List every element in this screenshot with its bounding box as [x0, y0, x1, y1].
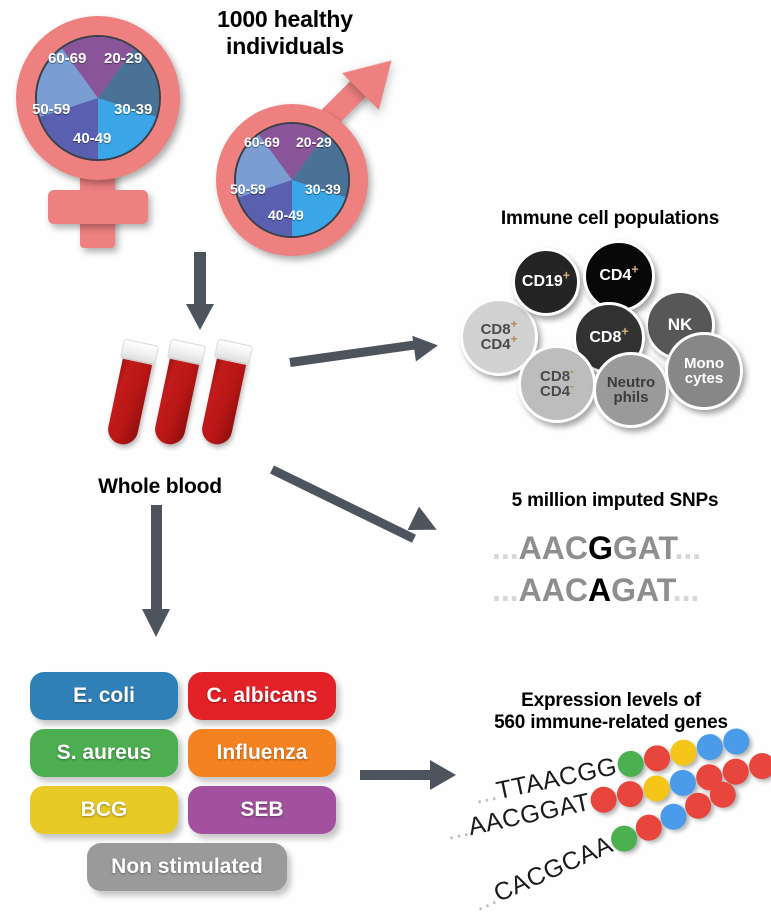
- blood-tube-body: [105, 351, 153, 447]
- gene-bead: [615, 778, 646, 809]
- gene-bead: [615, 748, 646, 779]
- cell-neutrophils: Neutro phils: [593, 352, 669, 428]
- snp-variant-allele: A: [588, 572, 611, 608]
- cell-label: CD8- CD4-: [540, 369, 574, 400]
- male-gender-symbol: 20-29 30-39 40-49 50-59 60-69: [212, 90, 412, 250]
- cell-label: Mono cytes: [684, 356, 724, 387]
- snp-dots-left: ...: [492, 572, 519, 608]
- snp-sequence-row-1: ...AACGGAT...: [492, 530, 701, 567]
- arrow-shaft: [270, 465, 416, 542]
- cell-label: CD4+: [599, 268, 638, 284]
- snp-dots-right: ...: [675, 530, 702, 566]
- female-pie-label-50-59: 50-59: [32, 101, 70, 118]
- stimuli-panel: E. coli C. albicans S. aureus Influenza …: [30, 672, 340, 892]
- male-pie-label-50-59: 50-59: [230, 181, 266, 197]
- male-pie-label-20-29: 20-29: [296, 134, 332, 150]
- whole-blood-label: Whole blood: [60, 475, 260, 500]
- blood-tube-body: [152, 351, 200, 447]
- expression-title-line1: Expression levels of: [455, 690, 767, 712]
- gene-bead: [694, 731, 725, 762]
- arrow-cohort-to-blood: [185, 252, 215, 330]
- stimulus-seb[interactable]: SEB: [188, 786, 336, 834]
- whole-blood-group: [95, 335, 275, 485]
- cell-cd8-cd4-double-negative: CD8- CD4-: [518, 345, 596, 423]
- gene-bead: [641, 773, 672, 804]
- gene-bead: [721, 726, 752, 757]
- male-pie-label-60-69: 60-69: [244, 134, 280, 150]
- arrow-blood-to-stimuli: [140, 505, 180, 645]
- snp-variant-allele: G: [588, 530, 613, 566]
- snp-prefix: AAC: [519, 530, 588, 566]
- blood-tube-body: [199, 351, 247, 447]
- stimulus-bcg[interactable]: BCG: [30, 786, 178, 834]
- snp-sequence-row-2: ...AACAGAT...: [492, 572, 699, 609]
- stimulus-influenza[interactable]: Influenza: [188, 729, 336, 777]
- cell-label: CD19+: [522, 274, 570, 290]
- blood-tube: [199, 339, 250, 447]
- female-gender-symbol: 20-29 30-39 40-49 50-59 60-69: [8, 8, 198, 248]
- snps-title: 5 million imputed SNPs: [470, 490, 760, 512]
- stimulus-c-albicans[interactable]: C. albicans: [188, 672, 336, 720]
- cell-label: NK: [668, 316, 693, 333]
- snp-dots-left: ...: [492, 530, 519, 566]
- female-pie-label-60-69: 60-69: [48, 50, 86, 67]
- gene-strand-letters: CACGCAA: [490, 830, 618, 907]
- stimulus-s-aureus[interactable]: S. aureus: [30, 729, 178, 777]
- gene-bead: [668, 737, 699, 768]
- cell-label: Neutro phils: [607, 375, 655, 406]
- arrow-head: [142, 609, 170, 637]
- cell-cd19-positive: CD19+: [512, 248, 580, 316]
- figure-canvas: 1000 healthy individuals 20-29 30-39 40-…: [0, 0, 771, 922]
- snp-suffix: GAT: [611, 572, 673, 608]
- female-pie-label-40-49: 40-49: [73, 130, 111, 147]
- blood-tube: [152, 339, 203, 447]
- cell-monocytes: Mono cytes: [665, 332, 743, 410]
- female-symbol-crossbar: [48, 190, 148, 224]
- immune-cell-cluster: CD8+ CD4+ CD19+ CD4+ NK CD8+: [460, 240, 760, 425]
- arrow-head: [186, 304, 214, 330]
- female-pie-label-30-39: 30-39: [114, 101, 152, 118]
- gene-bead: [588, 784, 619, 815]
- blood-tube: [105, 339, 156, 447]
- cell-cd4-positive: CD4+: [583, 240, 655, 312]
- immune-cell-populations-title: Immune cell populations: [455, 208, 765, 230]
- snp-prefix: AAC: [519, 572, 588, 608]
- arrow-blood-to-snps: [272, 455, 462, 555]
- arrow-shaft: [289, 340, 417, 367]
- arrow-shaft: [194, 252, 206, 308]
- gene-strand-sequence: ...CACGCAA: [469, 830, 617, 917]
- arrow-head: [430, 760, 456, 790]
- arrow-shaft: [151, 505, 162, 613]
- female-pie-label-20-29: 20-29: [104, 50, 142, 67]
- arrow-blood-to-immune: [290, 330, 450, 390]
- gene-bead: [747, 750, 771, 781]
- cell-label: CD8+: [589, 330, 628, 346]
- arrow-shaft: [360, 770, 432, 780]
- cell-label: CD8+ CD4+: [481, 322, 518, 353]
- arrow-head: [412, 332, 439, 361]
- arrow-stimuli-to-expression: [360, 760, 470, 794]
- gene-bead: [641, 742, 672, 773]
- snp-suffix: GAT: [613, 530, 675, 566]
- male-pie-label-30-39: 30-39: [305, 181, 341, 197]
- male-pie-label-40-49: 40-49: [268, 207, 304, 223]
- stimulus-e-coli[interactable]: E. coli: [30, 672, 178, 720]
- snp-dots-right: ...: [673, 572, 700, 608]
- expression-title: Expression levels of 560 immune-related …: [455, 690, 767, 735]
- expression-strands-group: ...TTAACGG ...AACGGAT ...CACGCAA: [455, 740, 771, 915]
- stimulus-non-stimulated[interactable]: Non stimulated: [87, 843, 287, 891]
